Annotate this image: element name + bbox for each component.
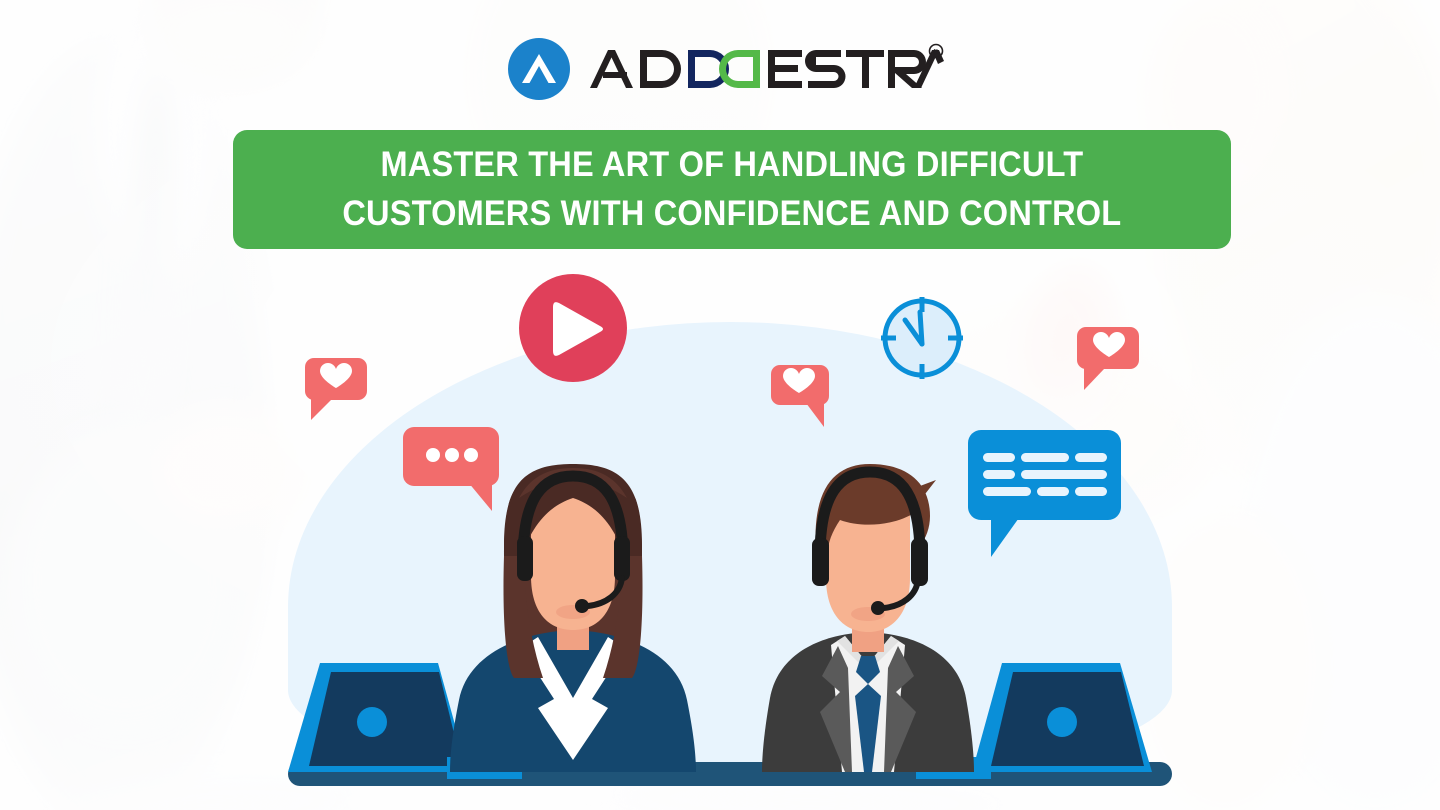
floating-icons-group (0, 0, 1440, 810)
icons-svg (0, 0, 1440, 810)
heart-bubble-left-icon (305, 358, 367, 420)
chat-bubble-icon (968, 430, 1121, 557)
heart-bubble-center-icon (771, 365, 829, 427)
play-button-icon (519, 274, 627, 382)
logo-wordmark: R (584, 42, 944, 96)
headline-line-1: MASTER THE ART OF HANDLING DIFFICULT (381, 147, 1084, 183)
heart-bubble-right-icon (1077, 327, 1139, 390)
headline-banner: MASTER THE ART OF HANDLING DIFFICULT CUS… (233, 130, 1231, 249)
brand-logo[interactable]: R (508, 38, 944, 100)
illustration (0, 0, 1440, 810)
headline-line-2: CUSTOMERS WITH CONFIDENCE AND CONTROL (342, 196, 1121, 232)
banner-canvas: R MASTER THE ART OF HANDLING DIFFICULT C… (0, 0, 1440, 810)
svg-text:R: R (933, 48, 939, 57)
logo-chevron-a-icon (508, 38, 570, 100)
ellipsis-bubble-icon (403, 427, 499, 511)
clock-icon (881, 297, 963, 379)
